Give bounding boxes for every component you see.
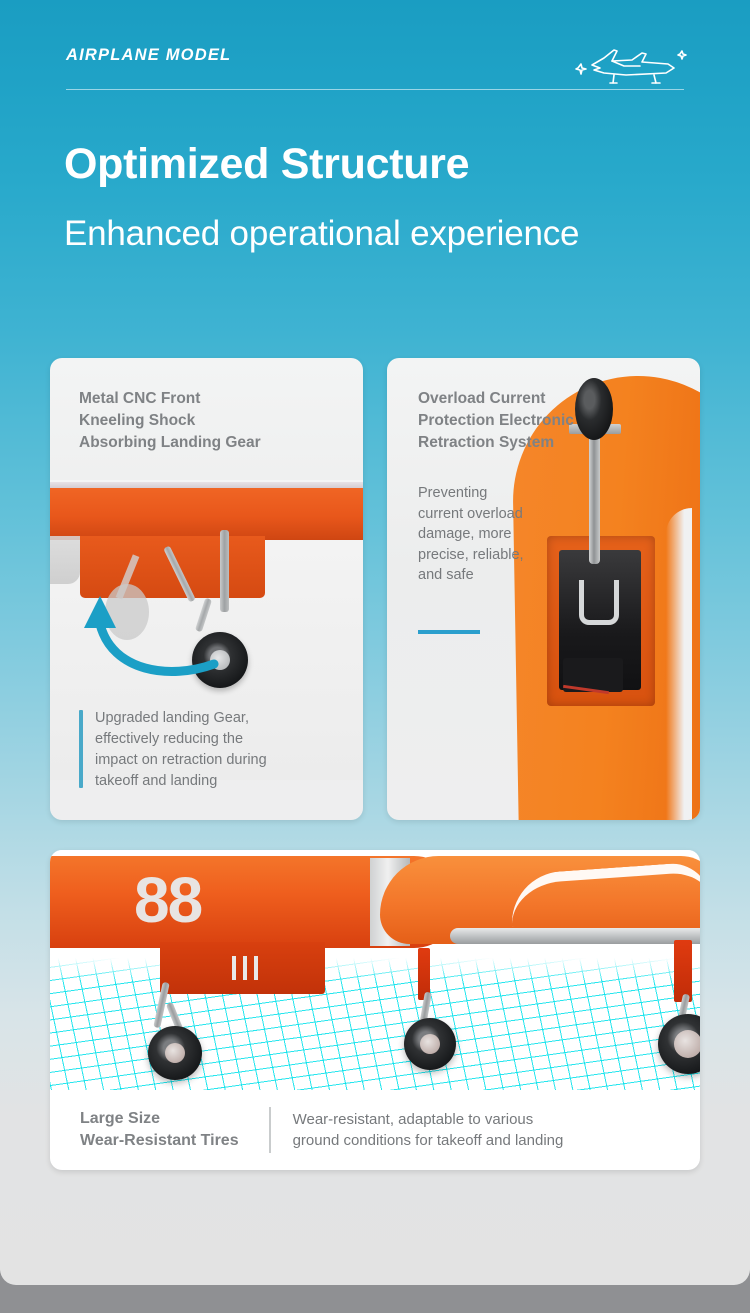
header-divider: [66, 89, 684, 90]
caption-accent-bar: [79, 710, 83, 788]
product-detail-page: AIRPLANE MODEL Optimized Structure Enhan…: [0, 0, 750, 1313]
page-subtitle: Enhanced operational experience: [64, 212, 584, 257]
page-sheet: AIRPLANE MODEL Optimized Structure Enhan…: [0, 0, 750, 1285]
left-main-gear: [140, 982, 210, 1082]
card-footer: Large Size Wear-Resistant Tires Wear-res…: [50, 1090, 700, 1170]
page-header: AIRPLANE MODEL: [66, 42, 684, 90]
wheel-hub: [420, 1034, 440, 1054]
right-main-gear: [650, 940, 700, 1080]
brand-label: AIRPLANE MODEL: [66, 46, 231, 65]
aircraft-photo: 88: [50, 850, 700, 1090]
retraction-motion-arrow-icon: [66, 568, 226, 678]
gear-strut-red: [674, 940, 692, 1002]
page-title: Optimized Structure: [64, 142, 469, 187]
footer-description: Wear-resistant, adaptable to various gro…: [293, 1109, 564, 1152]
card-body-text: Preventing current overload damage, more…: [418, 483, 568, 586]
airplane-line-art-icon: [570, 44, 690, 92]
wheel-hub: [165, 1043, 185, 1063]
feature-card-landing-gear: Metal CNC Front Kneeling Shock Absorbing…: [50, 358, 363, 820]
wing-stripes-decal: [232, 956, 258, 980]
footer-divider: [269, 1107, 271, 1153]
card-title: Overload Current Protection Electronic R…: [418, 388, 682, 454]
wheel-hub: [674, 1030, 700, 1058]
fuselage-underside: [50, 488, 363, 540]
body-accent-bar: [418, 630, 480, 634]
nose-edge-highlight: [666, 508, 692, 820]
center-gear: [396, 948, 466, 1078]
card-title: Metal CNC Front Kneeling Shock Absorbing…: [79, 388, 343, 454]
feature-card-tires: 88: [50, 850, 700, 1170]
footer-title: Large Size Wear-Resistant Tires: [80, 1108, 239, 1153]
tail-number-decal: 88: [134, 868, 201, 932]
card-caption: Upgraded landing Gear, effectively reduc…: [95, 708, 350, 792]
feature-card-retraction-system: Overload Current Protection Electronic R…: [387, 358, 700, 820]
strut-fork: [579, 580, 619, 625]
